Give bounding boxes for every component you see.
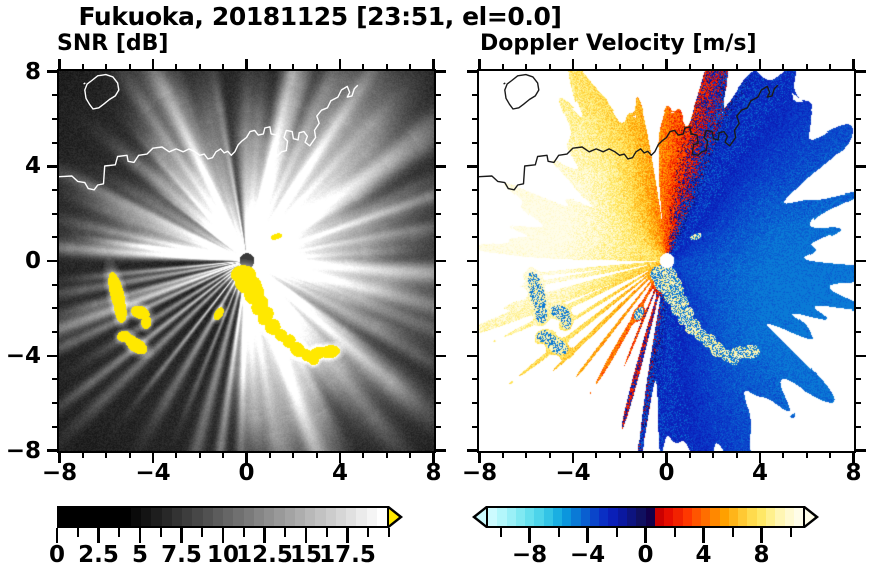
colorbar-minor-tick bbox=[201, 528, 203, 537]
x-axis-label: 4 bbox=[752, 460, 768, 486]
colorbar-swatch bbox=[69, 508, 79, 526]
y-minor-tick bbox=[434, 402, 441, 404]
x-axis-label: −8 bbox=[462, 460, 497, 486]
x-minor-tick bbox=[782, 64, 784, 71]
colorbar-swatch bbox=[646, 508, 655, 526]
colorbar-swatch bbox=[673, 508, 682, 526]
colorbar-major-tick bbox=[263, 528, 266, 543]
y-minor-tick bbox=[434, 189, 441, 191]
x-minor-tick bbox=[386, 451, 388, 458]
snr-colorbar[interactable] bbox=[57, 506, 389, 528]
y-minor-tick bbox=[434, 331, 441, 333]
colorbar-minor-tick bbox=[388, 528, 390, 537]
y-minor-tick bbox=[434, 236, 441, 238]
y-axis-label: 8 bbox=[0, 59, 41, 85]
colorbar-swatch bbox=[794, 508, 803, 526]
colorbar-under-arrow-fill bbox=[476, 509, 486, 525]
y-minor-tick bbox=[52, 284, 59, 286]
x-minor-tick bbox=[316, 451, 318, 458]
colorbar-minor-tick bbox=[790, 528, 792, 537]
y-major-tick bbox=[467, 260, 479, 263]
snr-panel-title: SNR [dB] bbox=[57, 31, 168, 56]
y-minor-tick bbox=[52, 189, 59, 191]
colorbar-tick-label: 4 bbox=[695, 542, 711, 568]
colorbar-swatch bbox=[254, 508, 264, 526]
y-minor-tick bbox=[472, 118, 479, 120]
x-minor-tick bbox=[595, 451, 597, 458]
colorbar-swatch bbox=[336, 508, 346, 526]
doppler-plot[interactable] bbox=[477, 69, 856, 453]
colorbar-tick-label: 12.5 bbox=[236, 542, 293, 568]
colorbar-tick-label: 0 bbox=[49, 542, 65, 568]
colorbar-swatch bbox=[599, 508, 608, 526]
colorbar-major-tick bbox=[139, 528, 142, 543]
colorbar-major-tick bbox=[644, 528, 647, 543]
x-minor-tick bbox=[829, 64, 831, 71]
y-minor-tick bbox=[434, 307, 441, 309]
colorbar-tick-label: 7.5 bbox=[161, 542, 202, 568]
x-minor-tick bbox=[82, 451, 84, 458]
y-minor-tick bbox=[472, 402, 479, 404]
y-major-tick bbox=[467, 165, 479, 168]
snr-plot-canvas bbox=[59, 71, 434, 451]
colorbar-swatch bbox=[775, 508, 784, 526]
y-major-tick bbox=[467, 355, 479, 358]
colorbar-swatch bbox=[121, 508, 131, 526]
x-minor-tick bbox=[619, 451, 621, 458]
x-minor-tick bbox=[175, 64, 177, 71]
x-minor-tick bbox=[689, 64, 691, 71]
x-minor-tick bbox=[549, 451, 551, 458]
colorbar-minor-tick bbox=[732, 528, 734, 537]
colorbar-tick-label: 5 bbox=[132, 542, 148, 568]
y-minor-tick bbox=[854, 189, 861, 191]
colorbar-swatch bbox=[192, 508, 202, 526]
colorbar-swatch bbox=[627, 508, 636, 526]
y-minor-tick bbox=[52, 236, 59, 238]
y-minor-tick bbox=[472, 284, 479, 286]
colorbar-swatch bbox=[618, 508, 627, 526]
y-minor-tick bbox=[472, 142, 479, 144]
colorbar-major-tick bbox=[346, 528, 349, 543]
colorbar-minor-tick bbox=[558, 528, 560, 537]
y-axis-label: −8 bbox=[0, 438, 41, 464]
colorbar-swatch bbox=[285, 508, 295, 526]
doppler-coastline bbox=[479, 71, 854, 451]
colorbar-tick-label: 0 bbox=[637, 542, 653, 568]
y-minor-tick bbox=[52, 118, 59, 120]
colorbar-swatch bbox=[213, 508, 223, 526]
x-major-tick bbox=[478, 59, 481, 71]
colorbar-swatch bbox=[507, 508, 516, 526]
colorbar-swatch bbox=[203, 508, 213, 526]
colorbar-minor-tick bbox=[674, 528, 676, 537]
x-minor-tick bbox=[525, 64, 527, 71]
colorbar-tick-label: 8 bbox=[753, 542, 769, 568]
y-major-tick bbox=[434, 449, 446, 452]
x-minor-tick bbox=[502, 64, 504, 71]
snr-coastline bbox=[59, 71, 434, 451]
x-major-tick bbox=[665, 59, 668, 71]
y-minor-tick bbox=[472, 213, 479, 215]
y-major-tick bbox=[47, 70, 59, 73]
x-major-tick bbox=[432, 59, 435, 71]
colorbar-swatch bbox=[151, 508, 161, 526]
colorbar-swatch bbox=[182, 508, 192, 526]
x-axis-label: 8 bbox=[845, 460, 861, 486]
y-major-tick bbox=[467, 70, 479, 73]
x-minor-tick bbox=[129, 451, 131, 458]
colorbar-swatch bbox=[223, 508, 233, 526]
x-major-tick bbox=[58, 59, 61, 71]
x-minor-tick bbox=[502, 451, 504, 458]
colorbar-swatch bbox=[710, 508, 719, 526]
x-minor-tick bbox=[199, 64, 201, 71]
y-major-tick bbox=[854, 165, 866, 168]
y-minor-tick bbox=[472, 331, 479, 333]
colorbar-swatch bbox=[172, 508, 182, 526]
y-major-tick bbox=[854, 70, 866, 73]
x-major-tick bbox=[245, 59, 248, 71]
colorbar-swatch bbox=[636, 508, 645, 526]
colorbar-major-tick bbox=[222, 528, 225, 543]
colorbar-major-tick bbox=[305, 528, 308, 543]
y-major-tick bbox=[47, 355, 59, 358]
x-axis-label: −4 bbox=[135, 460, 170, 486]
x-minor-tick bbox=[642, 64, 644, 71]
x-minor-tick bbox=[712, 451, 714, 458]
colorbar-minor-tick bbox=[77, 528, 79, 537]
colorbar-minor-tick bbox=[367, 528, 369, 537]
x-minor-tick bbox=[316, 64, 318, 71]
y-minor-tick bbox=[854, 213, 861, 215]
colorbar-swatch bbox=[729, 508, 738, 526]
x-major-tick bbox=[852, 59, 855, 71]
y-major-tick bbox=[47, 260, 59, 263]
colorbar-swatch bbox=[110, 508, 120, 526]
y-minor-tick bbox=[854, 307, 861, 309]
colorbar-tick-label: −8 bbox=[512, 542, 547, 568]
x-axis-label: 8 bbox=[425, 460, 441, 486]
colorbar-swatch bbox=[720, 508, 729, 526]
x-minor-tick bbox=[689, 451, 691, 458]
y-major-tick bbox=[854, 355, 866, 358]
colorbar-major-tick bbox=[56, 528, 59, 543]
x-minor-tick bbox=[362, 64, 364, 71]
y-minor-tick bbox=[472, 236, 479, 238]
doppler-plot-canvas bbox=[479, 71, 854, 451]
colorbar-swatch bbox=[655, 508, 664, 526]
x-axis-label: −8 bbox=[42, 460, 77, 486]
y-minor-tick bbox=[854, 331, 861, 333]
colorbar-swatch bbox=[90, 508, 100, 526]
colorbar-swatch bbox=[100, 508, 110, 526]
colorbar-swatch bbox=[131, 508, 141, 526]
x-minor-tick bbox=[199, 451, 201, 458]
x-minor-tick bbox=[292, 451, 294, 458]
doppler-panel-title: Doppler Velocity [m/s] bbox=[480, 31, 757, 56]
colorbar-swatch bbox=[525, 508, 534, 526]
y-minor-tick bbox=[434, 213, 441, 215]
y-major-tick bbox=[854, 260, 866, 263]
x-minor-tick bbox=[269, 451, 271, 458]
colorbar-swatch bbox=[488, 508, 497, 526]
colorbar-major-tick bbox=[97, 528, 100, 543]
x-minor-tick bbox=[175, 451, 177, 458]
x-minor-tick bbox=[736, 451, 738, 458]
x-minor-tick bbox=[806, 64, 808, 71]
colorbar-swatch bbox=[233, 508, 243, 526]
y-minor-tick bbox=[52, 426, 59, 428]
y-minor-tick bbox=[854, 284, 861, 286]
colorbar-minor-tick bbox=[500, 528, 502, 537]
y-axis-label: −4 bbox=[0, 343, 41, 369]
y-minor-tick bbox=[854, 426, 861, 428]
x-minor-tick bbox=[222, 64, 224, 71]
colorbar-major-tick bbox=[180, 528, 183, 543]
colorbar-minor-tick bbox=[284, 528, 286, 537]
x-minor-tick bbox=[409, 451, 411, 458]
colorbar-swatch bbox=[683, 508, 692, 526]
y-minor-tick bbox=[434, 94, 441, 96]
colorbar-major-tick bbox=[528, 528, 531, 543]
y-minor-tick bbox=[434, 426, 441, 428]
y-minor-tick bbox=[472, 378, 479, 380]
y-major-tick bbox=[434, 165, 446, 168]
x-axis-label: 0 bbox=[658, 460, 674, 486]
y-minor-tick bbox=[434, 378, 441, 380]
colorbar-swatch bbox=[244, 508, 254, 526]
y-major-tick bbox=[854, 449, 866, 452]
x-minor-tick bbox=[712, 64, 714, 71]
y-minor-tick bbox=[434, 142, 441, 144]
x-axis-label: 4 bbox=[332, 460, 348, 486]
y-minor-tick bbox=[854, 378, 861, 380]
colorbar-swatch bbox=[80, 508, 90, 526]
y-major-tick bbox=[434, 355, 446, 358]
x-major-tick bbox=[152, 59, 155, 71]
colorbar-swatch bbox=[747, 508, 756, 526]
colorbar-swatch bbox=[346, 508, 356, 526]
x-minor-tick bbox=[129, 64, 131, 71]
colorbar-swatch bbox=[377, 508, 387, 526]
x-minor-tick bbox=[82, 64, 84, 71]
y-minor-tick bbox=[52, 142, 59, 144]
x-major-tick bbox=[339, 59, 342, 71]
y-minor-tick bbox=[52, 378, 59, 380]
colorbar-swatch bbox=[315, 508, 325, 526]
colorbar-swatch bbox=[356, 508, 366, 526]
colorbar-tick-label: −4 bbox=[570, 542, 605, 568]
colorbar-tick-label: 15 bbox=[290, 542, 322, 568]
colorbar-swatch bbox=[264, 508, 274, 526]
colorbar-minor-tick bbox=[243, 528, 245, 537]
colorbar-minor-tick bbox=[616, 528, 618, 537]
colorbar-swatch bbox=[326, 508, 336, 526]
colorbar-swatch bbox=[274, 508, 284, 526]
colorbar-swatch bbox=[608, 508, 617, 526]
x-axis-label: 0 bbox=[238, 460, 254, 486]
x-minor-tick bbox=[619, 64, 621, 71]
colorbar-major-tick bbox=[760, 528, 763, 543]
x-minor-tick bbox=[525, 451, 527, 458]
y-minor-tick bbox=[472, 94, 479, 96]
x-minor-tick bbox=[782, 451, 784, 458]
colorbar-major-tick bbox=[702, 528, 705, 543]
x-minor-tick bbox=[806, 451, 808, 458]
y-minor-tick bbox=[52, 94, 59, 96]
x-minor-tick bbox=[595, 64, 597, 71]
colorbar-swatch bbox=[59, 508, 69, 526]
x-minor-tick bbox=[829, 451, 831, 458]
y-minor-tick bbox=[472, 426, 479, 428]
colorbar-swatch bbox=[367, 508, 377, 526]
colorbar-swatch bbox=[295, 508, 305, 526]
x-axis-label: −4 bbox=[555, 460, 590, 486]
y-minor-tick bbox=[854, 236, 861, 238]
y-axis-label: 4 bbox=[0, 153, 41, 179]
x-minor-tick bbox=[736, 64, 738, 71]
x-major-tick bbox=[572, 59, 575, 71]
colorbar-swatch bbox=[757, 508, 766, 526]
y-minor-tick bbox=[434, 284, 441, 286]
y-minor-tick bbox=[52, 213, 59, 215]
colorbar-swatch bbox=[664, 508, 673, 526]
colorbar-swatch bbox=[162, 508, 172, 526]
x-minor-tick bbox=[269, 64, 271, 71]
y-minor-tick bbox=[52, 307, 59, 309]
colorbar-minor-tick bbox=[326, 528, 328, 537]
y-major-tick bbox=[467, 449, 479, 452]
colorbar-swatch bbox=[738, 508, 747, 526]
x-minor-tick bbox=[105, 64, 107, 71]
y-minor-tick bbox=[472, 307, 479, 309]
colorbar-swatch bbox=[305, 508, 315, 526]
y-major-tick bbox=[47, 449, 59, 452]
colorbar-tick-label: 17.5 bbox=[319, 542, 376, 568]
x-minor-tick bbox=[362, 451, 364, 458]
colorbar-swatch bbox=[534, 508, 543, 526]
x-minor-tick bbox=[292, 64, 294, 71]
y-axis-label: 0 bbox=[0, 248, 41, 274]
colorbar-swatch bbox=[766, 508, 775, 526]
doppler-colorbar[interactable] bbox=[486, 506, 805, 528]
colorbar-swatch bbox=[516, 508, 525, 526]
colorbar-swatch bbox=[571, 508, 580, 526]
x-minor-tick bbox=[549, 64, 551, 71]
y-minor-tick bbox=[854, 118, 861, 120]
colorbar-minor-tick bbox=[160, 528, 162, 537]
x-major-tick bbox=[759, 59, 762, 71]
y-minor-tick bbox=[854, 94, 861, 96]
snr-plot[interactable] bbox=[57, 69, 436, 453]
colorbar-minor-tick bbox=[118, 528, 120, 537]
colorbar-swatch bbox=[553, 508, 562, 526]
colorbar-swatch bbox=[701, 508, 710, 526]
x-minor-tick bbox=[409, 64, 411, 71]
colorbar-swatch bbox=[562, 508, 571, 526]
x-minor-tick bbox=[222, 451, 224, 458]
y-major-tick bbox=[434, 260, 446, 263]
y-minor-tick bbox=[472, 189, 479, 191]
colorbar-swatch bbox=[785, 508, 794, 526]
colorbar-swatch bbox=[544, 508, 553, 526]
colorbar-over-arrow-fill bbox=[805, 509, 815, 525]
colorbar-swatch bbox=[590, 508, 599, 526]
y-major-tick bbox=[434, 70, 446, 73]
colorbar-tick-label: 10 bbox=[207, 542, 239, 568]
colorbar-swatch bbox=[497, 508, 506, 526]
y-minor-tick bbox=[854, 402, 861, 404]
y-minor-tick bbox=[52, 331, 59, 333]
y-major-tick bbox=[47, 165, 59, 168]
page-title: Fukuoka, 20181125 [23:51, el=0.0] bbox=[0, 2, 640, 31]
y-minor-tick bbox=[854, 142, 861, 144]
colorbar-swatch bbox=[581, 508, 590, 526]
colorbar-swatch bbox=[141, 508, 151, 526]
x-minor-tick bbox=[642, 451, 644, 458]
colorbar-major-tick bbox=[586, 528, 589, 543]
y-minor-tick bbox=[52, 402, 59, 404]
y-minor-tick bbox=[434, 118, 441, 120]
colorbar-tick-label: 2.5 bbox=[78, 542, 119, 568]
colorbar-swatch bbox=[692, 508, 701, 526]
colorbar-over-arrow-fill bbox=[389, 509, 399, 525]
x-minor-tick bbox=[105, 451, 107, 458]
x-minor-tick bbox=[386, 64, 388, 71]
